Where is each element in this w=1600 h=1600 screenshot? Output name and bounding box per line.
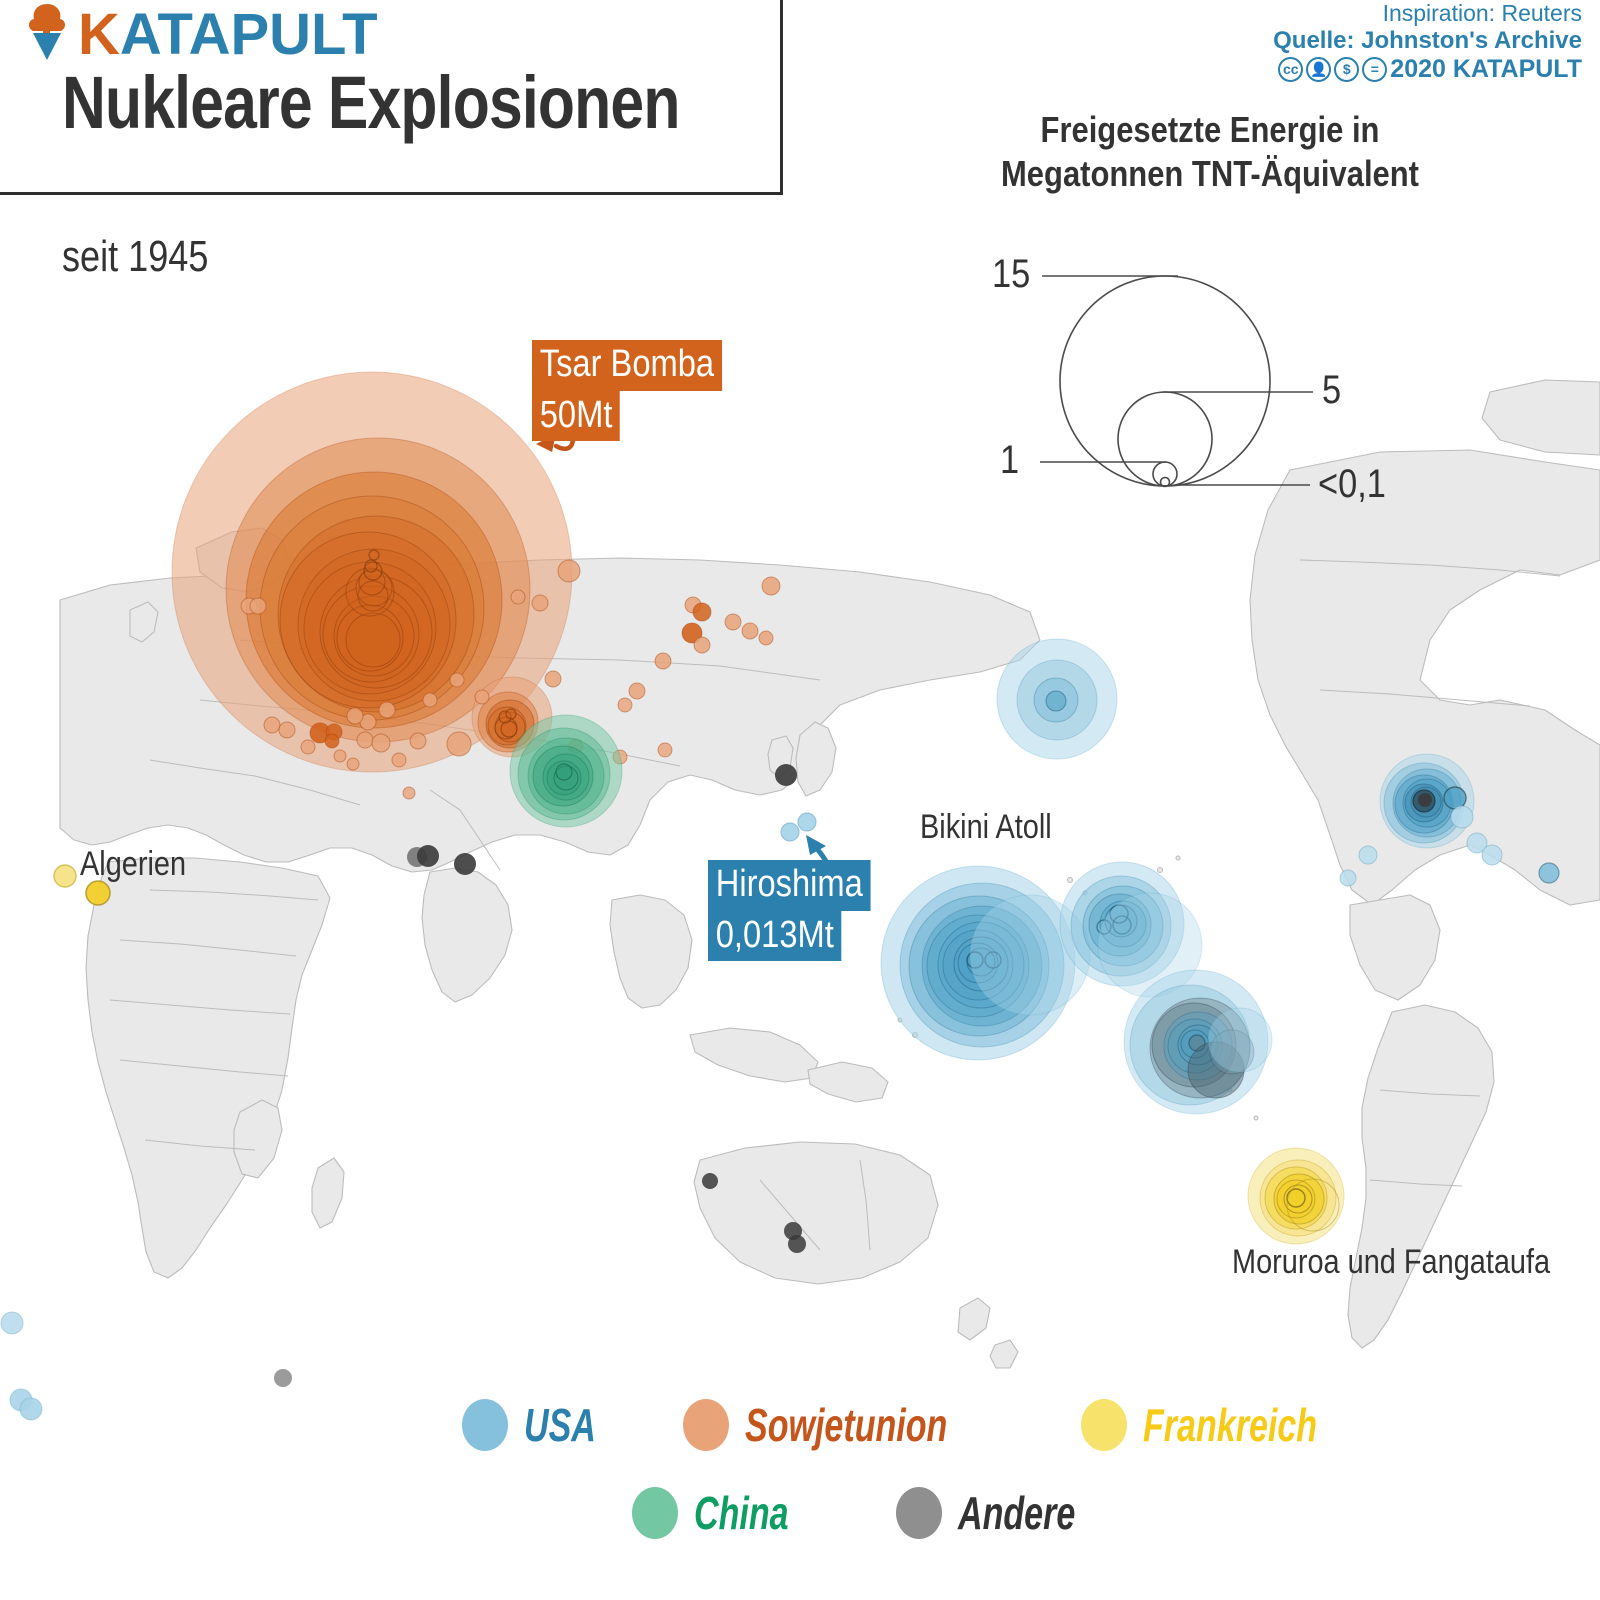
china-color-dot [632,1487,678,1539]
cc-icon: cc [1278,57,1303,82]
size-legend: Freigesetzte Energie in Megatonnen TNT-Ä… [930,100,1550,520]
map-label-algerien: Algerien [80,845,186,884]
legend-label-frankreich: Frankreich [1143,1398,1317,1452]
callout-tsar-bomba-name: Tsar Bomba [532,340,722,391]
legend-label-china: China [694,1486,789,1540]
size-legend-label-1: 1 [1000,438,1019,483]
cc-nd-icon: = [1362,57,1387,82]
usa-color-dot [462,1399,508,1451]
ice-cream-cone-icon [24,0,70,62]
frankreich-color-dot [1081,1399,1127,1451]
sowjetunion-color-dot [683,1399,729,1451]
legend-item-china[interactable]: China [632,1486,822,1540]
logo-rest: ATAPULT [120,2,378,67]
country-legend-row-1: USA Sowjetunion Frankreich [462,1398,1378,1452]
cc-nc-icon: $ [1334,57,1359,82]
country-legend-row-2: China Andere [632,1486,1116,1540]
size-legend-label-lt01: <0,1 [1318,462,1386,507]
credit-source: Quelle: Johnston's Archive [1273,27,1582,55]
callout-hiroshima-value: 0,013Mt [708,911,842,962]
logo-letter-k: K [78,2,120,67]
callout-hiroshima: Hiroshima 0,013Mt [708,860,897,961]
credit-inspiration: Inspiration: Reuters [1273,0,1582,27]
legend-label-usa: USA [524,1398,596,1452]
legend-item-frankreich[interactable]: Frankreich [1081,1398,1378,1452]
credit-copyright-text: 2020 KATAPULT [1390,55,1582,84]
size-legend-title: Freigesetzte Energie in Megatonnen TNT-Ä… [969,108,1451,196]
callout-tsar-bomba-value: 50Mt [532,391,620,442]
katapult-wordmark: KATAPULT [78,6,378,64]
credit-copyright-row: cc 👤 $ = 2020 KATAPULT [1273,55,1582,84]
legend-label-andere: Andere [958,1486,1075,1540]
infographic-root: Nukleare Explosionen seit 1945 Freigeset… [0,0,1600,1600]
page-title: Nukleare Explosionen [62,60,680,145]
credits-block: Inspiration: Reuters Quelle: Johnston's … [1273,0,1582,84]
andere-color-dot [896,1487,942,1539]
callout-hiroshima-name: Hiroshima [708,860,871,911]
katapult-logo[interactable]: KATAPULT [24,0,378,64]
size-legend-label-15: 15 [992,252,1030,297]
legend-label-sowjetunion: Sowjetunion [745,1398,947,1452]
legend-item-usa[interactable]: USA [462,1398,621,1452]
size-legend-title-line1: Freigesetzte Energie in [1041,109,1380,150]
legend-item-sowjetunion[interactable]: Sowjetunion [683,1398,1018,1452]
map-label-moruroa: Moruroa und Fangataufa [1232,1243,1550,1282]
map-label-bikini-atoll: Bikini Atoll [920,808,1052,847]
page-subtitle: seit 1945 [62,232,208,282]
size-legend-label-5: 5 [1322,368,1341,413]
size-legend-title-line2: Megatonnen TNT-Äquivalent [1001,153,1419,194]
legend-item-andere[interactable]: Andere [896,1486,1116,1540]
callout-tsar-bomba: Tsar Bomba 50Mt [532,340,753,441]
cc-by-icon: 👤 [1306,57,1331,82]
